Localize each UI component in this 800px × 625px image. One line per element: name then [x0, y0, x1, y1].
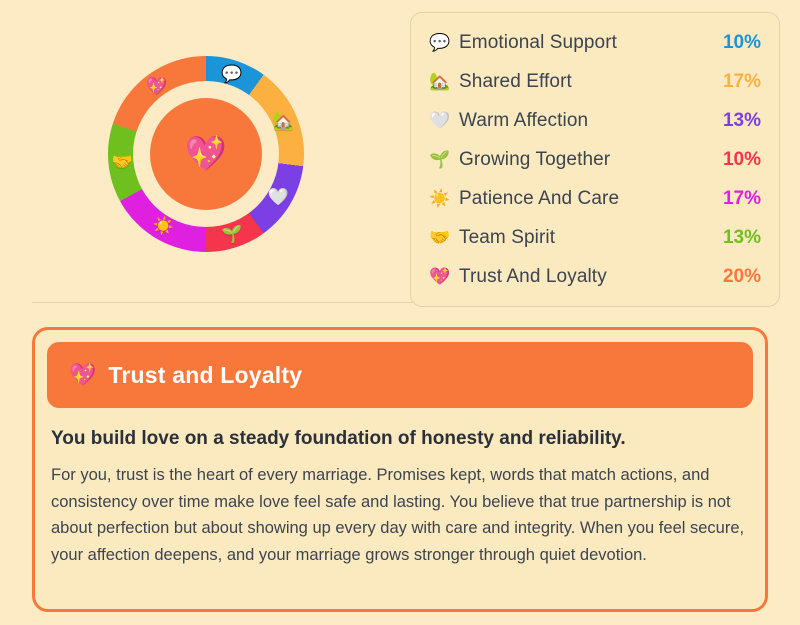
detail-card-header: 💖 Trust and Loyalty — [47, 342, 753, 408]
legend-percent: 10% — [709, 32, 761, 54]
donut-chart[interactable]: 💖 💬🏡🤍🌱☀️🤝💖 — [20, 8, 410, 292]
legend-row[interactable]: 🤝Team Spirit13% — [429, 218, 761, 257]
legend-label: Team Spirit — [459, 227, 709, 249]
legend-row[interactable]: ☀️Patience And Care17% — [429, 179, 761, 218]
detail-card: 💖 Trust and Loyalty You build love on a … — [32, 327, 768, 612]
white-heart-icon: 🤍 — [429, 112, 459, 129]
sparkling-heart-icon: 💖 — [429, 268, 459, 285]
legend-percent: 13% — [709, 110, 761, 132]
detail-card-title: Trust and Loyalty — [108, 362, 302, 389]
legend-percent: 13% — [709, 227, 761, 249]
handshake-icon: 🤝 — [429, 229, 459, 246]
legend-label: Warm Affection — [459, 110, 709, 132]
legend-label: Trust And Loyalty — [459, 266, 709, 288]
legend-row[interactable]: 🤍Warm Affection13% — [429, 101, 761, 140]
donut-ring[interactable] — [108, 56, 304, 252]
legend-label: Emotional Support — [459, 32, 709, 54]
top-region: 💖 💬🏡🤍🌱☀️🤝💖 💬Emotional Support10%🏡Shared … — [0, 0, 800, 292]
legend-row[interactable]: 💬Emotional Support10% — [429, 23, 761, 62]
legend-panel: 💬Emotional Support10%🏡Shared Effort17%🤍W… — [410, 12, 780, 307]
legend-percent: 10% — [709, 149, 761, 171]
legend-row[interactable]: 💖Trust And Loyalty20% — [429, 257, 761, 296]
house-with-garden-icon: 🏡 — [429, 73, 459, 90]
legend-percent: 20% — [709, 266, 761, 288]
legend-percent: 17% — [709, 188, 761, 210]
legend-row[interactable]: 🏡Shared Effort17% — [429, 62, 761, 101]
legend-label: Shared Effort — [459, 71, 709, 93]
speech-balloon-icon: 💬 — [429, 34, 459, 51]
legend-label: Growing Together — [459, 149, 709, 171]
seedling-icon: 🌱 — [429, 151, 459, 168]
sun-icon: ☀️ — [429, 190, 459, 207]
legend-row[interactable]: 🌱Growing Together10% — [429, 140, 761, 179]
legend-label: Patience And Care — [459, 188, 709, 210]
sparkling-heart-icon: 💖 — [69, 364, 96, 386]
detail-card-body: For you, trust is the heart of every mar… — [51, 462, 749, 569]
detail-card-tagline: You build love on a steady foundation of… — [51, 428, 749, 450]
legend-percent: 17% — [709, 71, 761, 93]
